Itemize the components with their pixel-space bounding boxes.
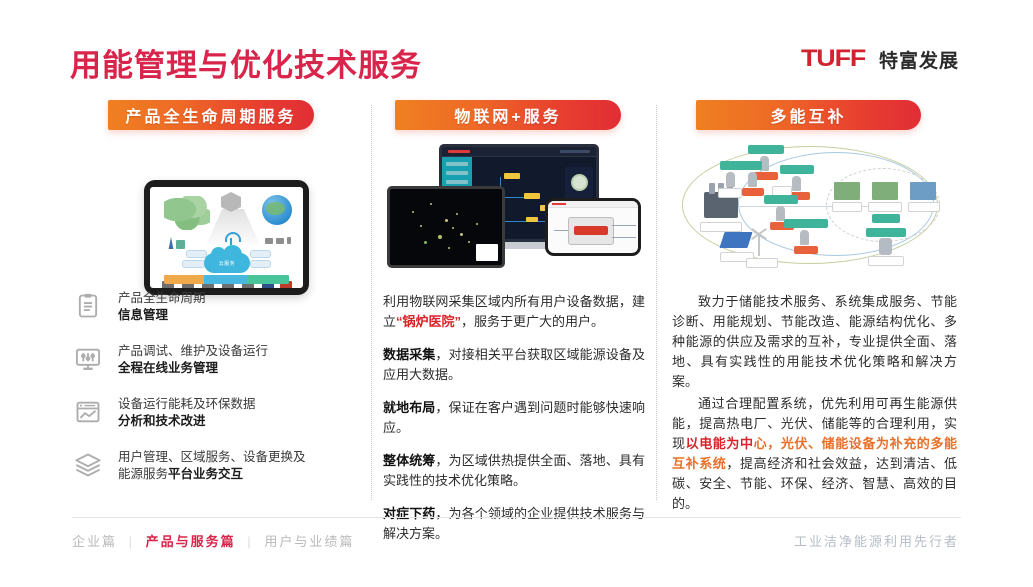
- paragraph-text: 致力于储能技术服务、系统集成服务、节能诊断、用能规划、节能改造、能源结构优化、多…: [672, 294, 957, 389]
- globe-icon: [262, 195, 292, 225]
- column-divider-1: [371, 105, 372, 500]
- column-product-lifecycle: 产品全生命周期服务: [74, 100, 360, 510]
- slide-root: 用能管理与优化技术服务 TUFF 特富发展 产品全生命周期服务: [0, 0, 1033, 587]
- gauge-widget: [571, 174, 588, 191]
- feature-list: 产品全生命周期 信息管理: [74, 290, 360, 502]
- map-legend-card: [476, 244, 498, 261]
- chart-window-icon: [74, 398, 104, 428]
- tank-label: [868, 256, 904, 266]
- solar-panel-icon: [719, 232, 752, 248]
- tag-pill: [250, 260, 271, 268]
- clipboard-icon: [74, 292, 104, 322]
- paragraph: 致力于储能技术服务、系统集成服务、节能诊断、用能规划、节能改造、能源结构优化、多…: [672, 292, 957, 392]
- boiler-diagram-graphic: [568, 217, 614, 245]
- red-tag: [742, 188, 764, 196]
- banner-label: 多能互补: [770, 103, 846, 127]
- tablet-screen: 云服务: [150, 187, 303, 288]
- meter-icon: [800, 230, 809, 245]
- banner-product-lifecycle: 产品全生命周期服务: [108, 100, 314, 130]
- list-item-text: 产品调试、维护及设备运行 全程在线业务管理: [118, 343, 268, 377]
- meter-icon: [792, 176, 801, 191]
- white-tag: [718, 188, 742, 198]
- footer-nav-item-1[interactable]: 产品与服务篇: [146, 534, 236, 549]
- banner-iot-service: 物联网+服务: [395, 100, 621, 130]
- column-iot-service: 物联网+服务: [383, 100, 645, 510]
- paragraph: 数据采集，对接相关平台获取区域能源设备及应用大数据。: [383, 345, 645, 385]
- night-map-graphic: [390, 189, 502, 265]
- city-icon: [910, 182, 936, 200]
- meter-icon: [726, 172, 735, 187]
- list-item-line2: 平台业务交互: [168, 467, 243, 481]
- tablet-device-map: [387, 186, 505, 268]
- highlight-red: 以电能为中: [686, 436, 754, 451]
- connector-line: [738, 206, 778, 207]
- paragraph: 通过合理配置系统，优先利用可再生能源供能，提高热电厂、光伏、储能等的合理利用，实…: [672, 394, 957, 514]
- highlight-orange-head: 心: [754, 436, 768, 451]
- laptop-topbar: [442, 147, 596, 157]
- page-title: 用能管理与优化技术服务: [70, 40, 422, 85]
- monitor-settings-icon: [74, 345, 104, 375]
- green-tag: [866, 228, 906, 237]
- footer-nav-item-2[interactable]: 用户与业绩篇: [264, 534, 354, 549]
- building-label: [868, 202, 902, 212]
- wind-turbine-icon: [758, 236, 760, 256]
- brand-logo: TUFF 特富发展: [801, 45, 959, 73]
- paragraph-lead: 数据采集: [383, 347, 435, 362]
- illustration-multi-device: [387, 144, 641, 269]
- tag-pill: [186, 250, 207, 258]
- illustration-energy-network: [676, 140, 954, 268]
- column-divider-2: [656, 105, 657, 500]
- connector-line: [778, 206, 840, 207]
- list-item: 产品调试、维护及设备运行 全程在线业务管理: [74, 343, 360, 377]
- logo-wordmark: TUFF: [801, 45, 865, 73]
- logo-chinese-name: 特富发展: [879, 46, 959, 73]
- cloud-service-icon: 云服务: [204, 253, 250, 273]
- phone-screen: [548, 201, 638, 253]
- building-label: [832, 202, 862, 212]
- pipe-line: [554, 230, 568, 231]
- list-item-line1: 用户管理、区域服务、设备更换及: [118, 450, 306, 464]
- paragraph-lead: 就地布局: [383, 400, 435, 415]
- paragraph: 就地布局，保证在客户遇到问题时能够快速响应。: [383, 398, 645, 438]
- green-tag: [720, 161, 762, 170]
- list-item-text: 产品全生命周期 信息管理: [118, 290, 206, 324]
- paragraph: 利用物联网采集区域内所有用户设备数据，建立“锅炉医院”，服务于更广大的用户。: [383, 292, 645, 332]
- tag-pill: [250, 250, 271, 258]
- footer-tagline: 工业洁净能源利用先行者: [794, 531, 959, 550]
- content-columns: 产品全生命周期服务: [0, 100, 1033, 510]
- green-tag: [748, 145, 784, 154]
- paragraph: 整体统筹，为区域供热提供全面、落地、具有实践性的技术优化策略。: [383, 451, 645, 491]
- green-tag: [784, 219, 828, 228]
- pipe-line: [612, 237, 636, 238]
- list-item: 设备运行能耗及环保数据 分析和技术改进: [74, 396, 360, 430]
- footer-nav: 企业篇 | 产品与服务篇 | 用户与业绩篇: [72, 531, 354, 550]
- green-tag: [872, 214, 900, 223]
- list-item-line2-prefix: 能源服务: [118, 467, 168, 481]
- building-label: [908, 202, 940, 212]
- paragraph-text: ，服务于更广大的用户。: [461, 314, 604, 329]
- paragraph-group: 致力于储能技术服务、系统集成服务、节能诊断、用能规划、节能改造、能源结构优化、多…: [672, 292, 957, 516]
- list-item-line2: 全程在线业务管理: [118, 361, 218, 375]
- banner-label: 物联网+服务: [454, 103, 561, 127]
- banner-label: 产品全生命周期服务: [125, 103, 296, 127]
- red-tag: [754, 172, 778, 180]
- list-item-line1: 设备运行能耗及环保数据: [118, 397, 256, 411]
- footer-divider: [72, 517, 961, 518]
- list-item-line1: 产品全生命周期: [118, 291, 206, 305]
- china-map-graphic: [164, 196, 210, 230]
- red-tag: [794, 246, 818, 254]
- paragraph: 对症下药，为各个领域的企业提供技术服务与解决方案。: [383, 504, 645, 544]
- list-item-text: 设备运行能耗及环保数据 分析和技术改进: [118, 396, 256, 430]
- plant-label: [700, 222, 742, 232]
- slide-header: 用能管理与优化技术服务 TUFF 特富发展: [0, 0, 1033, 92]
- wifi-icon: [224, 231, 238, 245]
- column-multi-energy: 多能互补: [672, 100, 957, 510]
- list-item: 产品全生命周期 信息管理: [74, 290, 360, 324]
- industrial-park-icon: [834, 182, 860, 200]
- list-item-text: 用户管理、区域服务、设备更换及 能源服务平台业务交互: [118, 449, 306, 483]
- pipe-line: [612, 225, 636, 226]
- green-tag: [780, 165, 814, 174]
- layers-icon: [74, 451, 104, 481]
- footer-separator: |: [247, 534, 252, 549]
- park-icon: [872, 182, 898, 200]
- storage-tank-icon: [879, 238, 892, 255]
- green-tag: [764, 195, 798, 204]
- tag-pill: [182, 260, 205, 268]
- list-item-line2: 分析和技术改进: [118, 414, 206, 428]
- footer-separator: |: [129, 534, 134, 549]
- list-item-line1: 产品调试、维护及设备运行: [118, 344, 268, 358]
- list-item: 用户管理、区域服务、设备更换及 能源服务平台业务交互: [74, 449, 360, 483]
- wind-label: [746, 258, 778, 268]
- tablet-device: 云服务: [144, 180, 309, 295]
- phone-topbar: [548, 201, 638, 208]
- footer-nav-item-0[interactable]: 企业篇: [72, 534, 117, 549]
- stage-bar: [164, 275, 289, 284]
- highlight-text: “锅炉医院”: [396, 314, 461, 329]
- banner-multi-energy: 多能互补: [696, 100, 921, 130]
- list-item-line2: 信息管理: [118, 308, 168, 322]
- building-icon: [176, 240, 185, 249]
- meter-icon: [748, 172, 757, 187]
- paragraph-lead: 整体统筹: [383, 453, 435, 468]
- paragraph-lead: 对症下药: [383, 506, 435, 521]
- phone-device: [545, 198, 641, 256]
- device-icons: [265, 237, 291, 244]
